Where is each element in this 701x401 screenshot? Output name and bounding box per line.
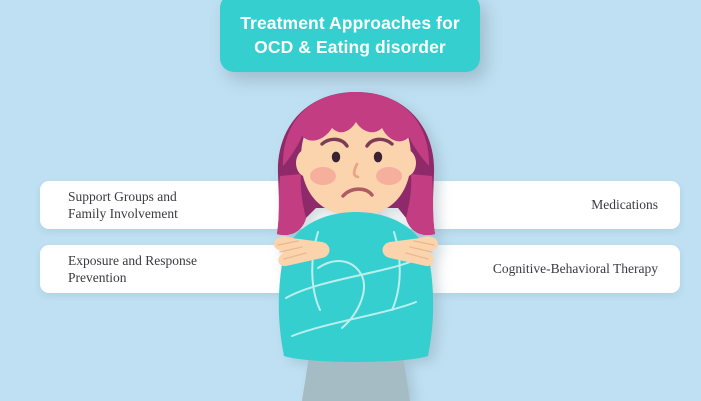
approach-label-support-groups: Support Groups and Family Involvement — [40, 188, 178, 222]
infographic-canvas: Treatment Approaches for OCD & Eating di… — [0, 0, 701, 401]
ear-right — [394, 149, 416, 177]
approach-label-exposure-response-prevention: Exposure and Response Prevention — [40, 252, 197, 286]
eye-left — [332, 152, 340, 163]
approach-label-cognitive-behavioral-therapy: Cognitive-Behavioral Therapy — [493, 260, 680, 277]
approach-bar-exposure-response-prevention[interactable]: Exposure and Response Prevention — [40, 245, 378, 293]
hair-fringe — [283, 92, 429, 166]
ear-left — [296, 149, 318, 177]
pants — [302, 350, 410, 401]
eyebrow-left — [322, 139, 347, 146]
arm-outline-b — [292, 302, 416, 336]
approach-bar-support-groups[interactable]: Support Groups and Family Involvement — [40, 181, 378, 229]
page-title: Treatment Approaches for OCD & Eating di… — [240, 7, 460, 59]
eye-right — [374, 152, 382, 163]
approach-label-medications: Medications — [591, 196, 680, 213]
eyebrow-right — [367, 139, 392, 146]
title-card: Treatment Approaches for OCD & Eating di… — [220, 0, 480, 72]
nose — [354, 164, 358, 177]
